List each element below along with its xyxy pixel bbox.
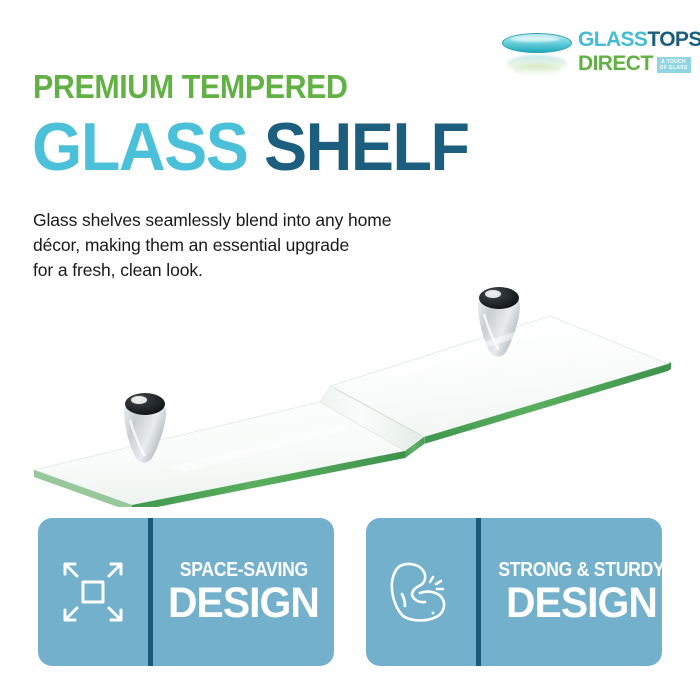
feature-title-1: DESIGN bbox=[168, 581, 319, 625]
eyebrow-heading: PREMIUM TEMPERED bbox=[33, 70, 348, 104]
feature-card-space-saving[interactable]: SPACE-SAVING DESIGN bbox=[38, 518, 334, 666]
feature-subtitle-2: STRONG & STURDY bbox=[498, 560, 662, 581]
bracket-cap-highlight-upper bbox=[485, 290, 501, 298]
logo-wordmark: GLASSTOPS DIRECT A TOUCH OF GLASS bbox=[578, 26, 700, 74]
bracket-cap-upper bbox=[479, 287, 519, 309]
feature-icon-wrapper-2 bbox=[366, 518, 481, 666]
logo-disc-reflection-lower bbox=[513, 64, 561, 76]
logo-tagline-line-two: OF GLASS bbox=[660, 65, 688, 71]
glass-disc-icon bbox=[498, 26, 576, 84]
feature-text-2: STRONG & STURDY DESIGN bbox=[481, 518, 662, 666]
page-title: GLASS SHELF bbox=[32, 112, 469, 182]
logo-tagline-badge: A TOUCH OF GLASS bbox=[657, 57, 691, 73]
feature-icon-wrapper-1 bbox=[38, 518, 153, 666]
glass-shelf-illustration bbox=[20, 262, 680, 507]
logo-line-one: GLASSTOPS bbox=[578, 29, 700, 50]
logo-text-direct: DIRECT bbox=[578, 53, 653, 74]
feature-subtitle-1: SPACE-SAVING bbox=[179, 560, 307, 581]
bracket-cap-highlight-lower bbox=[131, 396, 147, 404]
feature-title-2: DESIGN bbox=[506, 581, 657, 625]
logo-text-tops: TOPS bbox=[647, 28, 700, 51]
feature-cards: SPACE-SAVING DESIGN STRONG & STURDY DESI… bbox=[38, 518, 662, 666]
flexed-bicep-icon bbox=[386, 560, 456, 624]
bracket-cap-lower bbox=[125, 393, 165, 415]
description-line-2: décor, making them an essential upgrade bbox=[33, 233, 483, 258]
logo-line-two: DIRECT A TOUCH OF GLASS bbox=[578, 53, 700, 74]
expand-arrows-icon bbox=[61, 560, 125, 624]
product-marketing-image: GLASSTOPS DIRECT A TOUCH OF GLASS PREMIU… bbox=[0, 0, 700, 700]
page-title-word-glass: GLASS bbox=[32, 109, 247, 185]
brand-logo: GLASSTOPS DIRECT A TOUCH OF GLASS bbox=[498, 26, 684, 88]
logo-text-glass: GLASS bbox=[578, 28, 647, 51]
page-title-word-shelf: SHELF bbox=[264, 109, 469, 185]
upper-glass-edge-corner bbox=[668, 362, 671, 371]
feature-card-strong-sturdy[interactable]: STRONG & STURDY DESIGN bbox=[366, 518, 662, 666]
product-image bbox=[20, 262, 680, 507]
description-line-1: Glass shelves seamlessly blend into any … bbox=[33, 208, 483, 233]
feature-text-1: SPACE-SAVING DESIGN bbox=[153, 518, 334, 666]
logo-disc-gloss bbox=[510, 36, 560, 42]
